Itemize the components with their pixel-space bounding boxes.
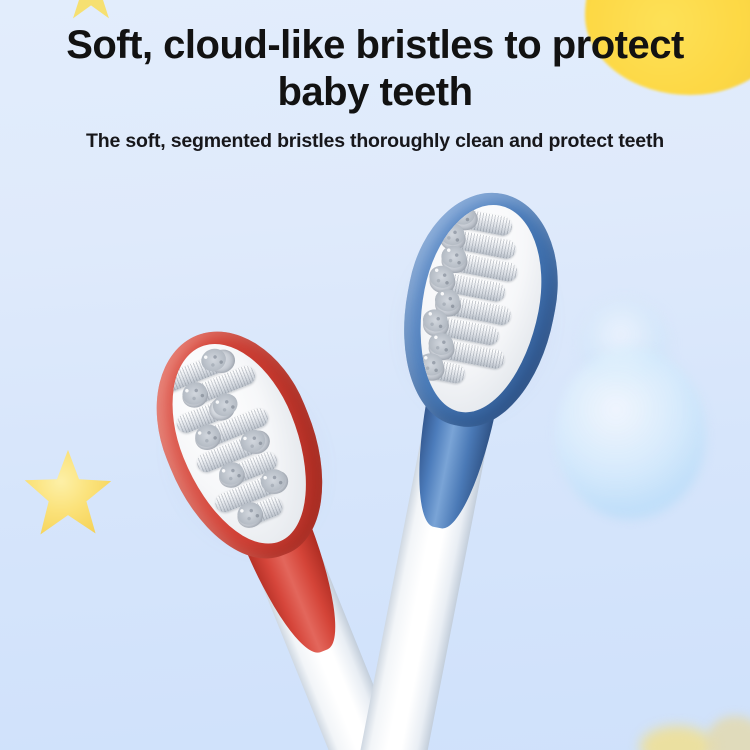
headline-line-2: baby teeth — [28, 69, 722, 116]
product-banner: Soft, cloud-like bristles to protect bab… — [0, 0, 750, 750]
red-bristle-field — [147, 325, 333, 563]
yellow-blob-bottom-right-icon — [640, 726, 714, 750]
blue-bubble-icon — [556, 348, 706, 520]
banner-text-block: Soft, cloud-like bristles to protect bab… — [0, 0, 750, 153]
yellow-blob-bottom-right-2-icon — [706, 716, 750, 750]
page-title: Soft, cloud-like bristles to protect bab… — [0, 0, 750, 116]
blue-bubble-small-icon — [582, 300, 668, 386]
page-subtitle: The soft, segmented bristles thoroughly … — [0, 130, 750, 153]
headline-line-1: Soft, cloud-like bristles to protect — [66, 23, 684, 67]
yellow-star-left-icon — [22, 448, 114, 540]
blue-toothbrush — [322, 180, 576, 750]
